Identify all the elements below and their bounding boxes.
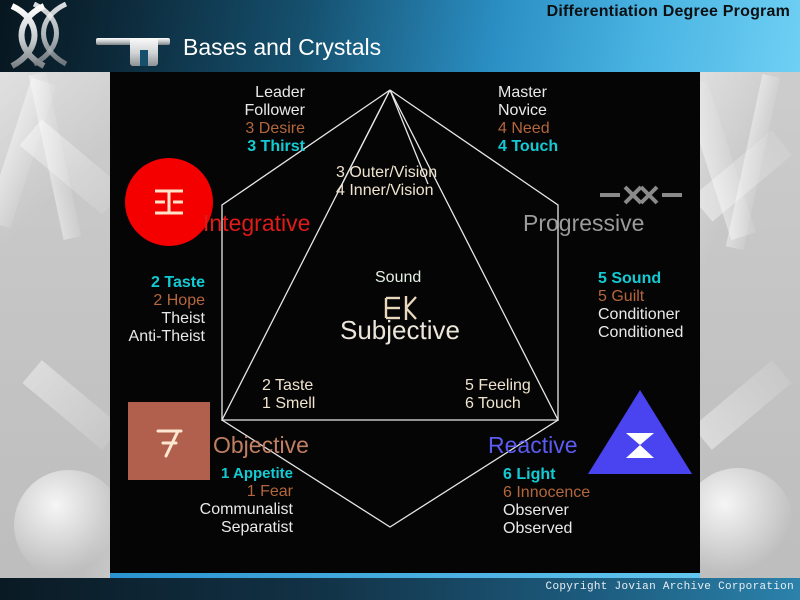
mid-right-line3: Conditioner <box>598 306 700 324</box>
top-left-line2: Follower <box>165 102 305 120</box>
top-right-line4: 4 Touch <box>498 138 648 156</box>
mid-left-block: 2 Taste 2 Hope Theist Anti-Theist <box>110 274 205 346</box>
top-right-block: Master Novice 4 Need 4 Touch <box>498 84 648 156</box>
inner-left-line1: 2 Taste <box>262 377 313 395</box>
copyright-notice: Copyright Jovian Archive Corporation <box>546 581 794 593</box>
bottom-left-line4: Separatist <box>128 519 293 537</box>
top-left-block: Leader Follower 3 Desire 3 Thirst <box>165 84 305 156</box>
slide-canvas: Differentiation Degree Program Bases and… <box>0 0 800 600</box>
mid-left-line1: 2 Taste <box>110 274 205 292</box>
inner-top-line2: 4 Inner/Vision <box>336 182 434 200</box>
bottom-right-line4: Observed <box>503 520 673 538</box>
diagram-panel: Sound Subjective Integrative Progressive… <box>110 72 700 577</box>
mid-right-line1: 5 Sound <box>598 270 700 288</box>
bottom-right-line3: Observer <box>503 502 673 520</box>
inner-right-line1: 5 Feeling <box>465 377 531 395</box>
program-title: Differentiation Degree Program <box>547 3 790 21</box>
key-bit-icon <box>130 38 158 66</box>
red-circle-hexagram-icon <box>125 158 213 246</box>
top-right-line1: Master <box>498 84 648 102</box>
corner-label-integrative: Integrative <box>203 210 310 237</box>
hourglass-glyph <box>623 430 657 460</box>
top-left-line4: 3 Thirst <box>165 138 305 156</box>
inner-right-line2: 6 Touch <box>465 395 521 413</box>
inner-left-line2: 1 Smell <box>262 395 315 413</box>
bottom-left-line1: 1 Appetite <box>128 466 293 483</box>
mid-left-line3: Theist <box>110 310 205 328</box>
bottom-left-line2: 1 Fear <box>128 483 293 501</box>
top-right-line2: Novice <box>498 102 648 120</box>
bottom-right-line1: 6 Light <box>503 466 673 484</box>
top-left-line3: 3 Desire <box>165 120 305 138</box>
mid-right-line4: Conditioned <box>598 324 700 342</box>
bottom-left-block: 1 Appetite 1 Fear Communalist Separatist <box>128 466 293 537</box>
bottom-left-line3: Communalist <box>128 501 293 519</box>
mid-right-block: 5 Sound 5 Guilt Conditioner Conditioned <box>598 270 700 342</box>
background-shape <box>14 470 124 580</box>
corner-label-reactive: Reactive <box>488 432 577 459</box>
center-title: Subjective <box>340 315 460 346</box>
page-title: Bases and Crystals <box>183 36 381 59</box>
mid-right-line2: 5 Guilt <box>598 288 700 306</box>
top-left-line1: Leader <box>165 84 305 102</box>
slide-footer: Copyright Jovian Archive Corporation <box>0 578 800 600</box>
inner-top-line1: 3 Outer/Vision <box>336 164 437 182</box>
mid-left-line2: 2 Hope <box>110 292 205 310</box>
hexagram-glyph <box>151 184 187 220</box>
gray-hexagram-lines-icon <box>598 184 684 206</box>
bottom-right-block: 6 Light 6 Innocence Observer Observed <box>503 466 673 538</box>
center-sound-label: Sound <box>375 269 421 287</box>
corner-label-progressive: Progressive <box>523 210 644 237</box>
top-right-line3: 4 Need <box>498 120 648 138</box>
slide-header: Differentiation Degree Program Bases and… <box>0 0 800 72</box>
seven-glyph <box>154 424 186 460</box>
corner-label-objective: Objective <box>213 432 309 459</box>
mid-left-line4: Anti-Theist <box>110 328 205 346</box>
bottom-right-line2: 6 Innocence <box>503 484 673 502</box>
